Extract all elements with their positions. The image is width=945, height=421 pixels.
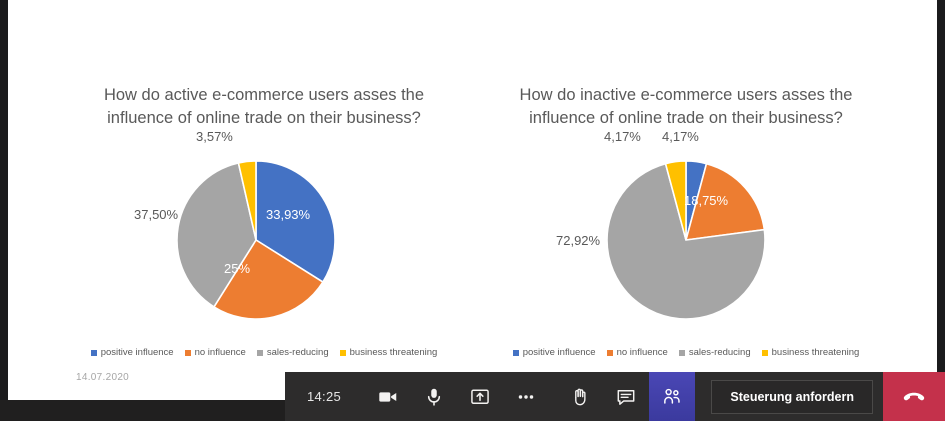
hangup-icon[interactable]	[883, 372, 945, 421]
legend-label: no influence	[617, 347, 668, 358]
meeting-control-bar: 14:25	[285, 372, 945, 421]
shared-presentation-slide: Under the influence of E-commerce?▼ How …	[8, 0, 937, 400]
slide-heading-text: Under the influence of E-commerce?	[199, 0, 711, 5]
legend-swatch-icon	[513, 350, 519, 356]
share-screen-icon[interactable]	[457, 372, 503, 421]
legend-label: positive influence	[101, 347, 174, 358]
chart-legend: positive influence no influence sales-re…	[54, 347, 474, 358]
legend-label: sales-reducing	[267, 347, 329, 358]
pie-area: 33,93% 25% 37,50% 3,57%	[54, 133, 474, 323]
chart-panel-active-users: How do active e-commerce users asses the…	[54, 84, 474, 323]
pie-area: 4,17% 18,75% 72,92% 4,17%	[476, 133, 896, 323]
more-options-icon[interactable]	[503, 372, 549, 421]
meeting-timer: 14:25	[285, 389, 365, 404]
slide-date: 14.07.2020	[76, 372, 129, 383]
legend-item-business-threatening: business threatening	[762, 347, 860, 358]
chat-icon[interactable]	[603, 372, 649, 421]
chart-legend: positive influence no influence sales-re…	[476, 347, 896, 358]
legend-item-no-influence: no influence	[185, 347, 246, 358]
request-control-button[interactable]: Steuerung anfordern	[711, 380, 873, 414]
pie-label-sales-reducing: 72,92%	[556, 233, 600, 248]
participants-icon[interactable]	[649, 372, 695, 421]
legend-swatch-icon	[257, 350, 263, 356]
pie-label-business-threatening: 4,17%	[604, 129, 641, 144]
pie-label-positive-influence: 4,17%	[662, 129, 699, 144]
legend-swatch-icon	[340, 350, 346, 356]
camera-icon[interactable]	[365, 372, 411, 421]
window-right-border	[937, 0, 945, 400]
legend-swatch-icon	[91, 350, 97, 356]
legend-label: no influence	[195, 347, 246, 358]
legend-item-sales-reducing: sales-reducing	[257, 347, 329, 358]
chevron-down-icon: ▼	[720, 0, 746, 5]
pie-chart-active-users	[171, 155, 341, 325]
chart-panel-inactive-users: How do inactive e-commerce users asses t…	[476, 84, 896, 323]
window-left-border	[0, 0, 8, 400]
chart-title: How do inactive e-commerce users asses t…	[476, 84, 896, 129]
legend-swatch-icon	[762, 350, 768, 356]
pie-label-business-threatening: 3,57%	[196, 129, 233, 144]
teams-meeting-window: Under the influence of E-commerce?▼ How …	[0, 0, 945, 421]
legend-label: positive influence	[523, 347, 596, 358]
pie-chart-inactive-users	[601, 155, 771, 325]
legend-item-no-influence: no influence	[607, 347, 668, 358]
legend-item-positive-influence: positive influence	[91, 347, 174, 358]
legend-item-sales-reducing: sales-reducing	[679, 347, 751, 358]
legend-swatch-icon	[607, 350, 613, 356]
raise-hand-icon[interactable]	[557, 372, 603, 421]
microphone-icon[interactable]	[411, 372, 457, 421]
legend-swatch-icon	[679, 350, 685, 356]
window-bottom-strip	[0, 400, 285, 421]
legend-swatch-icon	[185, 350, 191, 356]
legend-item-business-threatening: business threatening	[340, 347, 438, 358]
legend-label: sales-reducing	[689, 347, 751, 358]
slide-heading: Under the influence of E-commerce?▼	[8, 0, 937, 6]
legend-label: business threatening	[350, 347, 438, 358]
legend-item-positive-influence: positive influence	[513, 347, 596, 358]
chart-title: How do active e-commerce users asses the…	[54, 84, 474, 129]
legend-label: business threatening	[772, 347, 860, 358]
